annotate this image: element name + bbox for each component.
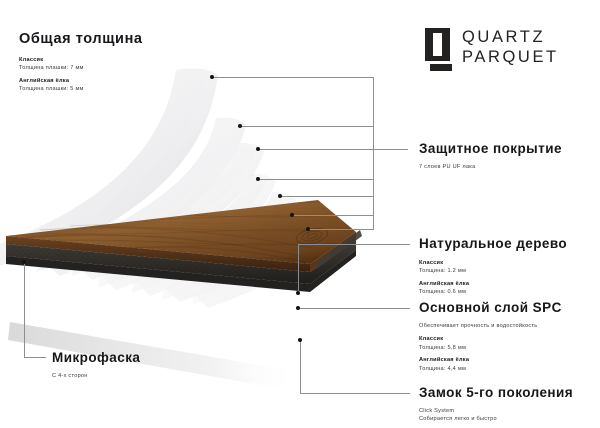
leader-wood-vertical: [298, 244, 299, 293]
spc-core-desc: Обеспечивает прочность и водостойкость: [419, 322, 562, 330]
leader-wood-horizontal: [298, 244, 410, 245]
leader-lock-vertical: [300, 340, 301, 393]
spc-core-item-1: Классик Толщина: 5,8 мм: [419, 335, 562, 352]
microbevel-title: Микрофаска: [52, 350, 140, 365]
callout-microbevel: Микрофаска С 4-х сторон: [52, 350, 140, 380]
leader-lacquer-4: [258, 179, 373, 180]
protective-coating-title: Защитное покрытие: [419, 141, 562, 156]
leader-dot-lacquer-5: [278, 194, 282, 198]
leader-microbevel-horizontal: [24, 357, 46, 358]
leader-dot-lacquer-2: [238, 124, 242, 128]
leader-dot-natural-wood: [296, 291, 300, 295]
total-thickness-item-2-value: Толщина плашки: 5 мм: [19, 86, 84, 92]
protective-coating-desc: 7 слоев PU UF лака: [419, 163, 562, 171]
lock-system-title: Замок 5-го поколения: [419, 385, 573, 400]
microbevel-desc: С 4-х сторон: [52, 372, 140, 380]
leader-dot-spc-core: [296, 306, 300, 310]
total-thickness-title: Общая толщина: [19, 32, 143, 47]
leader-lacquer-1: [212, 77, 373, 78]
infographic-canvas: QUARTZ PARQUET: [0, 0, 600, 428]
total-thickness-item-2-name: Английская ёлка: [19, 78, 69, 84]
natural-wood-item-1: Классик Толщина: 1.2 мм: [419, 259, 567, 276]
natural-wood-item-2: Английская ёлка Толщина: 0.6 мм: [419, 280, 567, 297]
leader-dot-lacquer-1: [210, 75, 214, 79]
leader-lacquer-5: [280, 196, 373, 197]
callout-lock-system: Замок 5-го поколения Click System Собира…: [419, 385, 573, 424]
natural-wood-item-1-value: Толщина: 1.2 мм: [419, 268, 466, 274]
spc-core-title: Основной слой SPC: [419, 300, 562, 315]
leader-dot-lacquer-4: [256, 177, 260, 181]
brand-name-line1: QUARTZ: [462, 27, 559, 47]
spc-core-item-2: Английская ёлка Толщина: 4,4 мм: [419, 356, 562, 373]
callout-total-thickness: Общая толщина Классик Толщина плашки: 7 …: [19, 32, 143, 94]
leader-dot-lock: [298, 338, 302, 342]
total-thickness-item-2: Английская ёлка Толщина плашки: 5 мм: [19, 77, 143, 94]
leader-lacquer-spine: [373, 77, 374, 230]
leader-lacquer-6: [292, 215, 373, 216]
leader-dot-microbevel: [22, 260, 26, 264]
leader-lacquer-2: [240, 126, 373, 127]
leader-dot-lacquer-3: [256, 147, 260, 151]
total-thickness-item-1-name: Классик: [19, 57, 43, 63]
callout-protective-coating: Защитное покрытие 7 слоев PU UF лака: [419, 141, 562, 171]
callout-natural-wood: Натуральное дерево Классик Толщина: 1.2 …: [419, 236, 567, 297]
natural-wood-item-1-name: Классик: [419, 260, 443, 266]
leader-spc-horizontal: [298, 308, 410, 309]
total-thickness-item-1: Классик Толщина плашки: 7 мм: [19, 56, 143, 73]
total-thickness-item-1-value: Толщина плашки: 7 мм: [19, 65, 84, 71]
lock-system-desc-2: Собирается легко и быстро: [419, 415, 573, 423]
spc-core-item-2-value: Толщина: 4,4 мм: [419, 366, 466, 372]
leader-lock-horizontal: [300, 393, 410, 394]
spc-core-item-1-name: Классик: [419, 336, 443, 342]
quartz-parquet-mark-icon: [425, 28, 450, 68]
brand-name-line2: PARQUET: [462, 47, 559, 67]
spc-core-item-2-name: Английская ёлка: [419, 357, 469, 363]
natural-wood-item-2-value: Толщина: 0.6 мм: [419, 289, 466, 295]
lock-system-desc-1: Click System: [419, 407, 573, 415]
leader-microbevel-vertical: [24, 262, 25, 357]
brand-logo: QUARTZ PARQUET: [425, 28, 585, 78]
leader-lacquer-3: [258, 149, 408, 150]
leader-lacquer-7: [308, 229, 373, 230]
natural-wood-item-2-name: Английская ёлка: [419, 281, 469, 287]
leader-dot-lacquer-7: [306, 227, 310, 231]
leader-dot-lacquer-6: [290, 213, 294, 217]
callout-spc-core: Основной слой SPC Обеспечивает прочность…: [419, 300, 562, 373]
natural-wood-title: Натуральное дерево: [419, 236, 567, 251]
spc-core-item-1-value: Толщина: 5,8 мм: [419, 345, 466, 351]
